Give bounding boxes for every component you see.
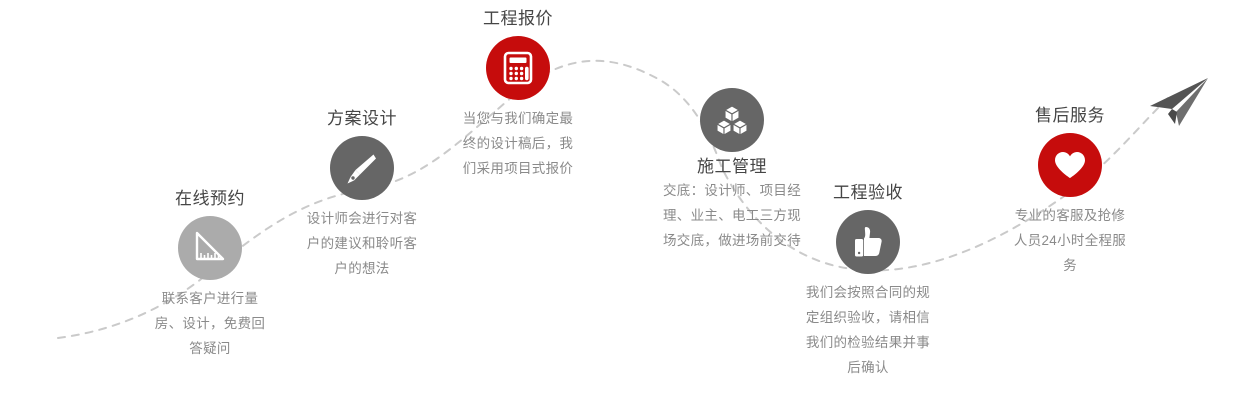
step-1-desc-line-1: 联系客户进行量 bbox=[120, 286, 300, 311]
step-3-description: 当您与我们确定最 终的设计稿后，我 们采用项目式报价 bbox=[428, 106, 608, 181]
ruler-triangle-icon bbox=[190, 228, 230, 268]
step-2-desc-line-1: 设计师会进行对客 bbox=[272, 206, 452, 231]
pen-nib-icon bbox=[343, 149, 381, 187]
step-6-title: 售后服务 bbox=[980, 105, 1160, 127]
step-1-desc-line-3: 答疑问 bbox=[120, 336, 300, 361]
cubes-blocks-icon bbox=[713, 101, 751, 139]
step-3-icon-circle[interactable] bbox=[486, 36, 550, 100]
flow-step-6[interactable]: 售后服务 专业的客服及抢修 人员24小时全程服 务 bbox=[980, 105, 1160, 278]
flow-step-3[interactable]: 工程报价 当您与我们确定最 终的设计稿后，我 们采用项目式报价 bbox=[428, 8, 608, 181]
step-4-icon-circle[interactable] bbox=[700, 88, 764, 152]
step-5-icon-circle[interactable] bbox=[836, 210, 900, 274]
step-3-desc-line-2: 终的设计稿后，我 bbox=[428, 131, 608, 156]
step-2-icon-circle[interactable] bbox=[330, 136, 394, 200]
heart-icon bbox=[1051, 146, 1089, 184]
step-2-title: 方案设计 bbox=[272, 108, 452, 130]
flow-step-2[interactable]: 方案设计 设计师会进行对客 户的建议和聆听客 户的想法 bbox=[272, 108, 452, 281]
step-5-desc-line-1: 我们会按照合同的规 bbox=[768, 280, 968, 305]
thumbs-up-icon bbox=[849, 223, 887, 261]
step-6-desc-line-1: 专业的客服及抢修 bbox=[980, 203, 1160, 228]
step-6-desc-line-3: 务 bbox=[980, 253, 1160, 278]
flow-diagram: 在线预约 联系客户进行量 房、设计，免费回 答疑问 方案设计 bbox=[0, 0, 1245, 402]
step-6-icon-circle[interactable] bbox=[1038, 133, 1102, 197]
step-2-description: 设计师会进行对客 户的建议和聆听客 户的想法 bbox=[272, 206, 452, 281]
step-5-title: 工程验收 bbox=[768, 182, 968, 204]
step-3-title: 工程报价 bbox=[428, 8, 608, 30]
step-2-desc-line-2: 户的建议和聆听客 bbox=[272, 231, 452, 256]
step-6-desc-line-2: 人员24小时全程服 bbox=[980, 228, 1160, 253]
flow-step-5[interactable]: 工程验收 我们会按照合同的规 定组织验收，请相信 我们的检验结果并事 后确认 bbox=[768, 182, 968, 380]
step-5-desc-line-2: 定组织验收，请相信 bbox=[768, 305, 968, 330]
step-3-desc-line-3: 们采用项目式报价 bbox=[428, 156, 608, 181]
step-3-desc-line-1: 当您与我们确定最 bbox=[428, 106, 608, 131]
step-2-desc-line-3: 户的想法 bbox=[272, 256, 452, 281]
step-6-description: 专业的客服及抢修 人员24小时全程服 务 bbox=[980, 203, 1160, 278]
step-4-title: 施工管理 bbox=[632, 156, 832, 178]
step-5-desc-line-3: 我们的检验结果并事 bbox=[768, 330, 968, 355]
step-1-desc-line-2: 房、设计，免费回 bbox=[120, 311, 300, 336]
step-5-desc-line-4: 后确认 bbox=[768, 355, 968, 380]
calculator-icon bbox=[499, 49, 537, 87]
step-1-icon-circle[interactable] bbox=[178, 216, 242, 280]
step-1-description: 联系客户进行量 房、设计，免费回 答疑问 bbox=[120, 286, 300, 361]
step-5-description: 我们会按照合同的规 定组织验收，请相信 我们的检验结果并事 后确认 bbox=[768, 280, 968, 380]
